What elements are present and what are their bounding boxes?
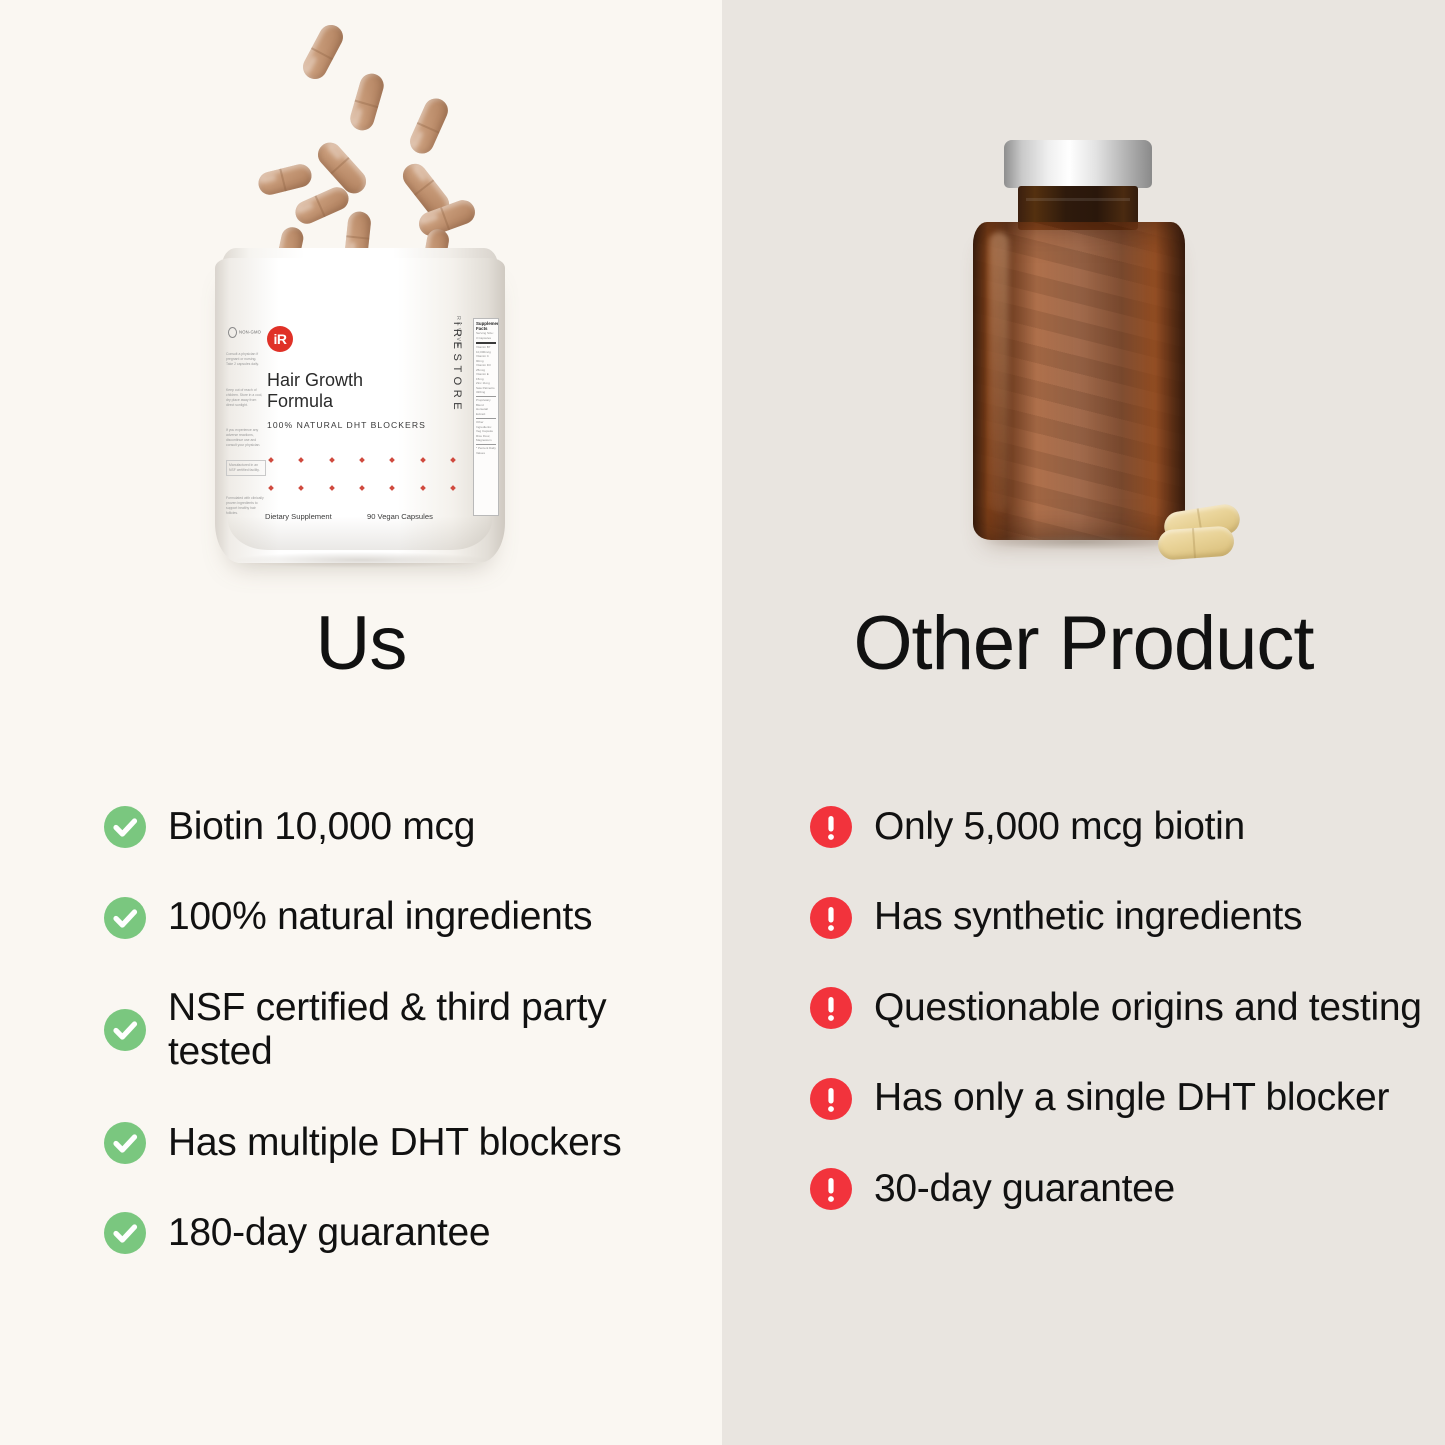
list-item: NSF certified & third party tested [104,986,688,1075]
feature-text: Biotin 10,000 mcg [168,805,475,849]
comparison-column-other-product: Other Product Only 5,000 mcg biotin Has … [722,0,1445,1445]
feature-text: Only 5,000 mcg biotin [874,805,1245,849]
list-item: Only 5,000 mcg biotin [810,805,1425,849]
check-circle-icon [104,1212,146,1254]
feature-text: Questionable origins and testing [874,986,1422,1030]
other-product-column-heading: Other Product [722,590,1445,687]
amber-bottle-illustration [0,0,1445,590]
feature-text: Has only a single DHT blocker [874,1076,1389,1120]
list-item: 30-day guarantee [810,1167,1425,1211]
list-item: Questionable origins and testing [810,986,1425,1030]
list-item: Biotin 10,000 mcg [104,805,688,849]
alert-circle-icon [810,1168,852,1210]
alert-circle-icon [810,987,852,1029]
alert-circle-icon [810,897,852,939]
feature-text: 180-day guarantee [168,1211,490,1255]
check-circle-icon [104,1009,146,1051]
feature-text: NSF certified & third party tested [168,986,688,1075]
alert-circle-icon [810,1078,852,1120]
list-item: Has synthetic ingredients [810,895,1425,939]
list-item: Has multiple DHT blockers [104,1121,688,1165]
bottle-drop-shadow [985,534,1175,550]
check-circle-icon [104,806,146,848]
us-feature-list: Biotin 10,000 mcg 100% natural ingredien… [0,687,722,1256]
capsule [1157,525,1235,560]
feature-text: 100% natural ingredients [168,895,592,939]
list-item: Has only a single DHT blocker [810,1076,1425,1120]
bottle-body [973,222,1185,540]
feature-text: Has synthetic ingredients [874,895,1302,939]
other-product-feature-list: Only 5,000 mcg biotin Has synthetic ingr… [722,687,1445,1211]
check-circle-icon [104,897,146,939]
list-item: 100% natural ingredients [104,895,688,939]
check-circle-icon [104,1122,146,1164]
feature-text: 30-day guarantee [874,1167,1175,1211]
alert-circle-icon [810,806,852,848]
list-item: 180-day guarantee [104,1211,688,1255]
feature-text: Has multiple DHT blockers [168,1121,621,1165]
us-column-heading: Us [0,590,722,687]
other-product-image [722,0,1445,590]
bottle-cap [1004,140,1152,188]
product-comparison-board: NON-GMO Consult a physician if pregnant … [0,0,1445,1445]
